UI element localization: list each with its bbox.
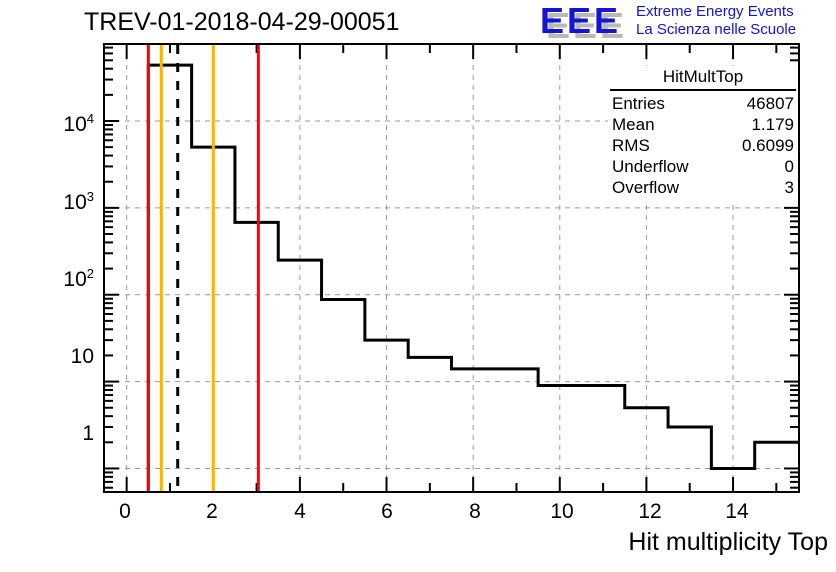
stats-box: HitMultTop Entries 46807 Mean 1.179 RMS …: [608, 66, 798, 204]
y-tick-label-1000: 103: [28, 189, 94, 215]
eee-logo-mark: E E E E E E: [540, 3, 632, 39]
y-tick-label-10000: 104: [28, 111, 94, 137]
stats-value-rms: 0.6099: [742, 135, 794, 156]
stats-key-underflow: Underflow: [612, 156, 689, 177]
root-canvas: TREV-01-2018-04-29-00051 E E E E E E Ext…: [0, 0, 836, 572]
stats-value-underflow: 0: [785, 156, 794, 177]
eee-logo-line2: La Scienza nelle Scuole: [636, 21, 796, 39]
stats-row-mean: Mean 1.179: [608, 114, 798, 135]
stats-row-underflow: Underflow 0: [608, 156, 798, 177]
stats-value-entries: 46807: [747, 93, 794, 114]
stats-value-overflow: 3: [785, 177, 794, 198]
page-title: TREV-01-2018-04-29-00051: [84, 8, 399, 37]
stats-box-title: HitMultTop: [608, 66, 798, 89]
x-tick-label-0: 0: [105, 500, 145, 524]
stats-row-rms: RMS 0.6099: [608, 135, 798, 156]
x-tick-label-8: 8: [455, 500, 495, 524]
stats-key-overflow: Overflow: [612, 177, 679, 198]
stats-row-entries: Entries 46807: [608, 93, 798, 114]
y-tick-label-100: 102: [28, 266, 94, 292]
y-tick-label-1: 1: [28, 422, 94, 446]
x-tick-label-10: 10: [542, 500, 582, 524]
x-tick-label-12: 12: [630, 500, 670, 524]
x-tick-label-2: 2: [192, 500, 232, 524]
stats-box-divider: [610, 89, 796, 91]
stats-key-entries: Entries: [612, 93, 665, 114]
eee-logo: E E E E E E Extreme Energy Events La Sci…: [540, 2, 836, 44]
x-tick-label-6: 6: [367, 500, 407, 524]
stats-key-mean: Mean: [612, 114, 655, 135]
x-tick-label-14: 14: [717, 500, 757, 524]
stats-row-overflow: Overflow 3: [608, 177, 798, 198]
x-axis-title: Hit multiplicity Top: [628, 528, 828, 557]
y-tick-label-10: 10: [28, 345, 94, 369]
stats-key-rms: RMS: [612, 135, 650, 156]
eee-letter-blue-2: E: [567, 3, 591, 39]
stats-value-mean: 1.179: [751, 114, 794, 135]
eee-letter-blue-1: E: [540, 3, 564, 39]
eee-letter-blue-3: E: [594, 3, 618, 39]
eee-logo-line1: Extreme Energy Events: [636, 3, 796, 21]
eee-logo-text: Extreme Energy Events La Scienza nelle S…: [636, 3, 796, 39]
marker-lines: [148, 45, 258, 491]
x-tick-label-4: 4: [280, 500, 320, 524]
